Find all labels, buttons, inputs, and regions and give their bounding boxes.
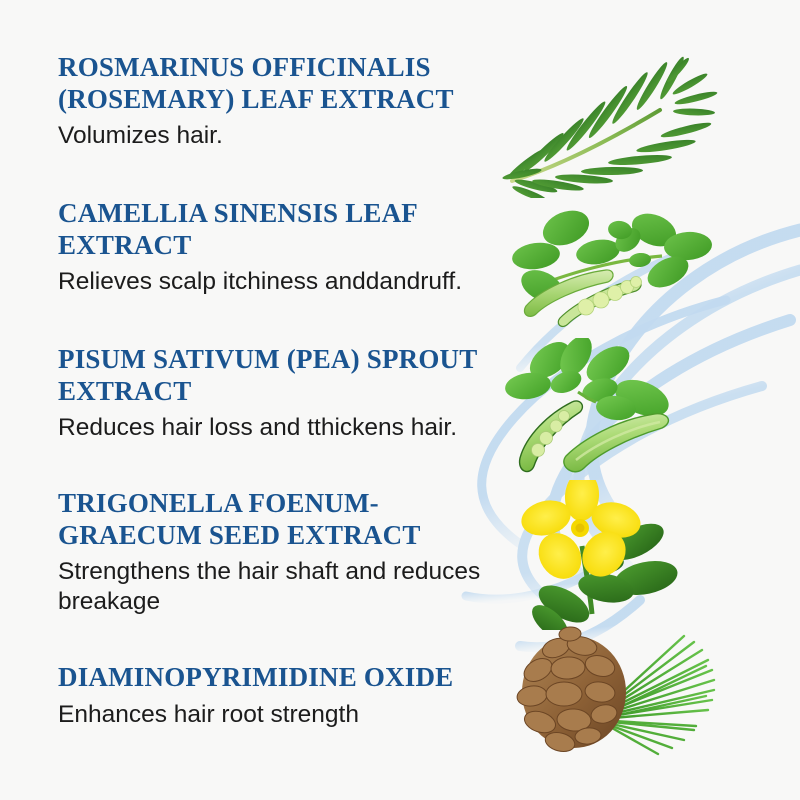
ingredient-image xyxy=(500,48,730,198)
pea-pod-with-leaves-image xyxy=(502,194,722,334)
pea-sprout-pods-image xyxy=(504,338,724,483)
ingredient-text-block: DIAMINOPYRIMIDINE OXIDE Enhances hair ro… xyxy=(58,662,498,729)
ingredient-description: Relieves scalp itchiness anddandruff. xyxy=(58,267,498,296)
ingredient-text-block: ROSMARINUS OFFICINALIS (ROSEMARY) LEAF E… xyxy=(58,52,498,151)
ingredient-description: Enhances hair root strength xyxy=(58,700,498,729)
ingredient-text-block: TRIGONELLA FOENUM-GRAECUM SEED EXTRACT S… xyxy=(58,488,498,616)
pine-cone-with-needles-image xyxy=(516,626,731,756)
ingredient-image xyxy=(502,194,722,334)
ingredient-title: TRIGONELLA FOENUM-GRAECUM SEED EXTRACT xyxy=(58,488,498,551)
fenugreek-yellow-flower-image xyxy=(520,480,730,630)
ingredient-title: PISUM SATIVUM (PEA) SPROUT EXTRACT xyxy=(58,344,498,407)
rosemary-sprig-image xyxy=(500,48,730,198)
ingredient-title: DIAMINOPYRIMIDINE OXIDE xyxy=(58,662,498,694)
ingredient-text-block: CAMELLIA SINENSIS LEAF EXTRACT Relieves … xyxy=(58,198,498,297)
ingredient-image xyxy=(520,480,730,630)
ingredient-image xyxy=(516,626,731,756)
ingredient-description: Reduces hair loss and tthickens hair. xyxy=(58,413,498,442)
ingredient-description: Volumizes hair. xyxy=(58,121,498,150)
ingredient-description: Strengthens the hair shaft and reduces b… xyxy=(58,557,498,616)
ingredient-title: ROSMARINUS OFFICINALIS (ROSEMARY) LEAF E… xyxy=(58,52,498,115)
ingredient-benefits-panel: ROSMARINUS OFFICINALIS (ROSEMARY) LEAF E… xyxy=(0,0,800,800)
ingredient-text-block: PISUM SATIVUM (PEA) SPROUT EXTRACT Reduc… xyxy=(58,344,498,443)
ingredient-title: CAMELLIA SINENSIS LEAF EXTRACT xyxy=(58,198,498,261)
ingredient-image xyxy=(504,338,724,483)
